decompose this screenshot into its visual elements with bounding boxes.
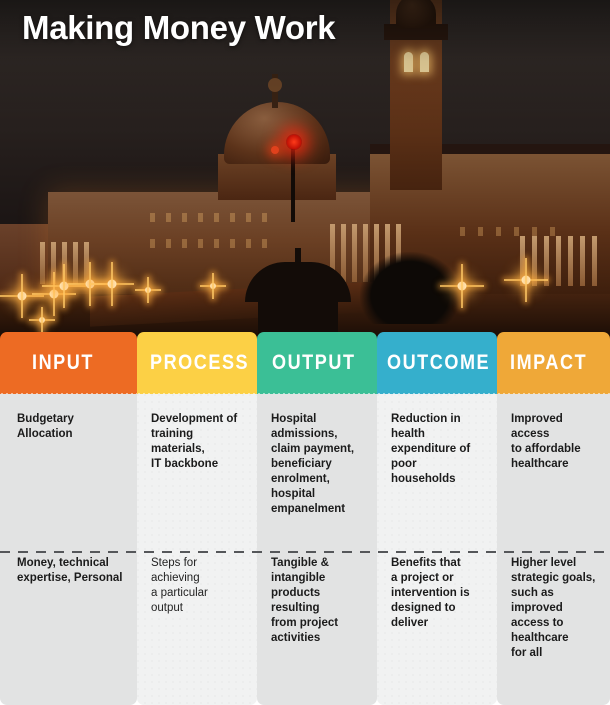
column-outcome-body: Reduction in health expenditure of poor … bbox=[377, 394, 497, 705]
tab-output-label: OUTPUT bbox=[272, 351, 356, 375]
cell-output-row2: Tangible & intangible products resulting… bbox=[271, 556, 363, 646]
gazebo-base bbox=[258, 298, 338, 334]
hero-photo: Making Money Work bbox=[0, 0, 610, 340]
street-lamp-icon bbox=[62, 284, 66, 288]
cell-outcome-row2: Benefits that a project or intervention … bbox=[391, 556, 483, 631]
cell-output-row1: Hospital admissions, claim payment, bene… bbox=[271, 412, 363, 534]
street-lamp-icon bbox=[20, 294, 24, 298]
cell-impact-row2: Higher level strategic goals, such as im… bbox=[511, 556, 596, 661]
column-outcome: OUTCOME Reduction in health expenditure … bbox=[377, 332, 497, 705]
street-lamp-icon bbox=[52, 292, 56, 296]
tab-impact-label: IMPACT bbox=[510, 351, 587, 375]
tower-window-icon bbox=[420, 52, 429, 72]
column-output-body: Hospital admissions, claim payment, bene… bbox=[257, 394, 377, 705]
infographic-page: Making Money Work INPUT Budgetary Alloca… bbox=[0, 0, 610, 705]
tab-outcome[interactable]: OUTCOME bbox=[377, 332, 497, 394]
signal-post bbox=[291, 144, 295, 222]
column-process-body: Development of training materials, IT ba… bbox=[137, 394, 257, 705]
red-light-icon bbox=[271, 146, 279, 154]
stages-grid: INPUT Budgetary Allocation Money, techni… bbox=[0, 332, 610, 705]
street-lamp-icon bbox=[524, 278, 528, 282]
tab-output[interactable]: OUTPUT bbox=[257, 332, 377, 394]
column-input: INPUT Budgetary Allocation Money, techni… bbox=[0, 332, 137, 705]
gazebo-finial bbox=[295, 248, 301, 266]
tab-input[interactable]: INPUT bbox=[0, 332, 137, 394]
clock-tower-cap bbox=[396, 0, 436, 28]
cell-process-row1: Development of training materials, IT ba… bbox=[151, 412, 243, 534]
cell-impact-row1: Improved access to affordable healthcare bbox=[511, 412, 596, 534]
street-lamp-icon bbox=[40, 318, 44, 322]
column-input-body: Budgetary Allocation Money, technical ex… bbox=[0, 394, 137, 705]
cell-input-row1: Budgetary Allocation bbox=[17, 412, 123, 534]
cell-process-row2: Steps for achieving a particular output bbox=[151, 556, 243, 616]
column-impact-body: Improved access to affordable healthcare… bbox=[497, 394, 610, 705]
street-lamp-icon bbox=[211, 284, 215, 288]
page-title: Making Money Work bbox=[22, 8, 335, 48]
column-process: PROCESS Development of training material… bbox=[137, 332, 257, 705]
street-lamp-icon bbox=[110, 282, 114, 286]
tower-window-icon bbox=[404, 52, 413, 72]
red-light-icon bbox=[286, 134, 302, 150]
tab-outcome-label: OUTCOME bbox=[387, 351, 490, 375]
cell-input-row2: Money, technical expertise, Personal bbox=[17, 556, 123, 586]
tree-silhouette bbox=[360, 252, 460, 324]
column-output: OUTPUT Hospital admissions, claim paymen… bbox=[257, 332, 377, 705]
cell-outcome-row1: Reduction in health expenditure of poor … bbox=[391, 412, 483, 534]
tab-input-label: INPUT bbox=[32, 351, 94, 375]
street-lamp-icon bbox=[146, 288, 150, 292]
column-impact: IMPACT Improved access to affordable hea… bbox=[497, 332, 610, 705]
tab-impact[interactable]: IMPACT bbox=[497, 332, 610, 394]
street-lamp-icon bbox=[460, 284, 464, 288]
dome-finial bbox=[272, 74, 278, 108]
tab-process[interactable]: PROCESS bbox=[137, 332, 257, 394]
tab-process-label: PROCESS bbox=[150, 351, 249, 375]
row-divider-dashed bbox=[0, 551, 610, 553]
